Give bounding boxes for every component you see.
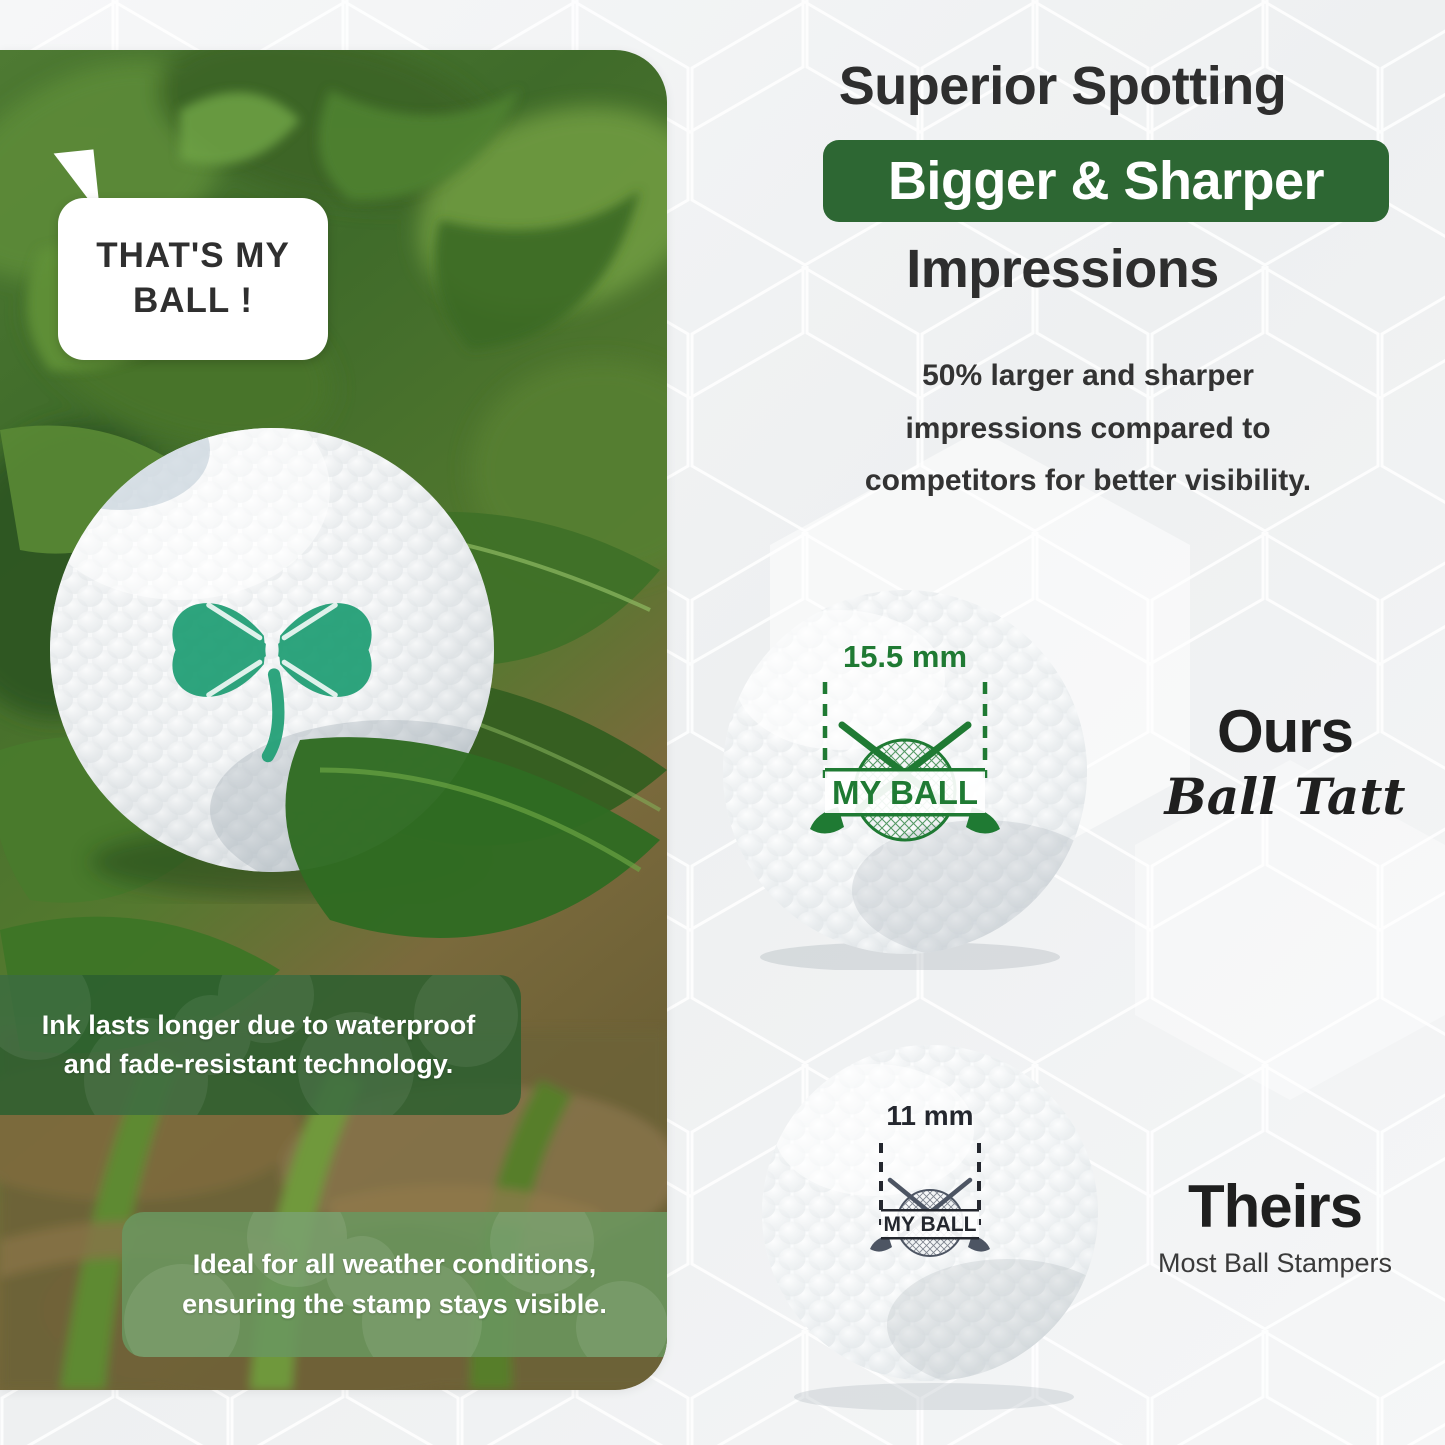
callout-1-line-2: and fade-resistant technology. (42, 1045, 476, 1084)
headline-superior-spotting: Superior Spotting (680, 55, 1445, 117)
brand-ball-tatt: Ball Tatt (1125, 767, 1445, 827)
subcopy-line-2: impressions compared to (738, 403, 1438, 456)
speech-bubble-line-1: THAT'S MY (96, 234, 290, 279)
callout-1-line-1: Ink lasts longer due to waterproof (42, 1006, 476, 1045)
right-content-column: Superior Spotting Bigger & Sharper Impre… (680, 0, 1445, 1445)
infographic-canvas: THAT'S MY BALL ! Ink lasts longer due to… (0, 0, 1445, 1445)
callout-2-line-2: ensuring the stamp stays visible. (182, 1285, 607, 1324)
subcopy-block: 50% larger and sharper impressions compa… (738, 350, 1438, 508)
speech-bubble-line-2: BALL ! (133, 279, 253, 324)
svg-text:11 mm: 11 mm (886, 1100, 973, 1131)
headline-impressions: Impressions (680, 238, 1445, 300)
stamp-text-theirs: MY BALL (884, 1213, 977, 1236)
golf-ball-theirs: 11 mm MY BALL (762, 1025, 1112, 1410)
stamp-text-ours: MY BALL (832, 774, 978, 811)
product-photo-panel: THAT'S MY BALL ! Ink lasts longer due to… (0, 50, 667, 1390)
headline-badge-label: Bigger & Sharper (888, 150, 1324, 212)
feature-callout-weather: Ideal for all weather conditions, ensuri… (122, 1212, 667, 1357)
callout-2-line-1: Ideal for all weather conditions, (182, 1245, 607, 1284)
subcopy-line-3: competitors for better visibility. (738, 455, 1438, 508)
label-ours: Ours (1125, 700, 1445, 763)
golf-ball-ours: 15.5 mm (720, 585, 1090, 970)
subcopy-line-1: 50% larger and sharper (738, 350, 1438, 403)
label-theirs-sub: Most Ball Stampers (1105, 1248, 1445, 1279)
feature-callout-waterproof: Ink lasts longer due to waterproof and f… (0, 975, 521, 1115)
headline-badge: Bigger & Sharper (823, 140, 1389, 222)
speech-bubble: THAT'S MY BALL ! (58, 198, 328, 360)
label-theirs-block: Theirs Most Ball Stampers (1105, 1175, 1445, 1279)
svg-text:15.5 mm: 15.5 mm (843, 639, 967, 674)
label-ours-block: Ours Ball Tatt (1125, 700, 1445, 827)
label-theirs: Theirs (1105, 1175, 1445, 1238)
